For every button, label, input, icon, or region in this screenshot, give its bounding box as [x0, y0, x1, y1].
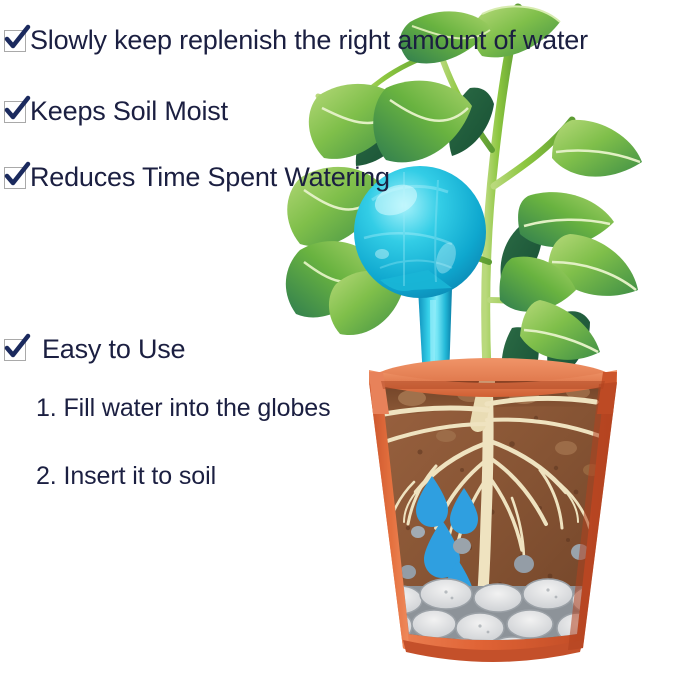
checkbox-checked-icon[interactable]: [4, 30, 26, 52]
feature-label: Easy to Use: [42, 336, 185, 363]
feature-item-replenish[interactable]: Slowly keep replenish the right amount o…: [4, 27, 588, 54]
feature-item-reduces-time[interactable]: Reduces Time Spent Watering: [4, 164, 390, 191]
step-item-insert-soil: 2. Insert it to soil: [36, 464, 216, 489]
checkbox-checked-icon[interactable]: [4, 339, 26, 361]
step-item-fill-water: 1. Fill water into the globes: [36, 396, 330, 421]
feature-text-layer: Slowly keep replenish the right amount o…: [0, 0, 679, 679]
feature-item-easy-to-use[interactable]: Easy to Use: [4, 336, 185, 363]
product-feature-infographic: Slowly keep replenish the right amount o…: [0, 0, 679, 679]
feature-item-soil-moist[interactable]: Keeps Soil Moist: [4, 98, 228, 125]
checkbox-checked-icon[interactable]: [4, 101, 26, 123]
feature-label: Keeps Soil Moist: [30, 98, 228, 125]
feature-label: Reduces Time Spent Watering: [30, 164, 390, 191]
feature-label: Slowly keep replenish the right amount o…: [30, 27, 588, 54]
checkbox-checked-icon[interactable]: [4, 167, 26, 189]
